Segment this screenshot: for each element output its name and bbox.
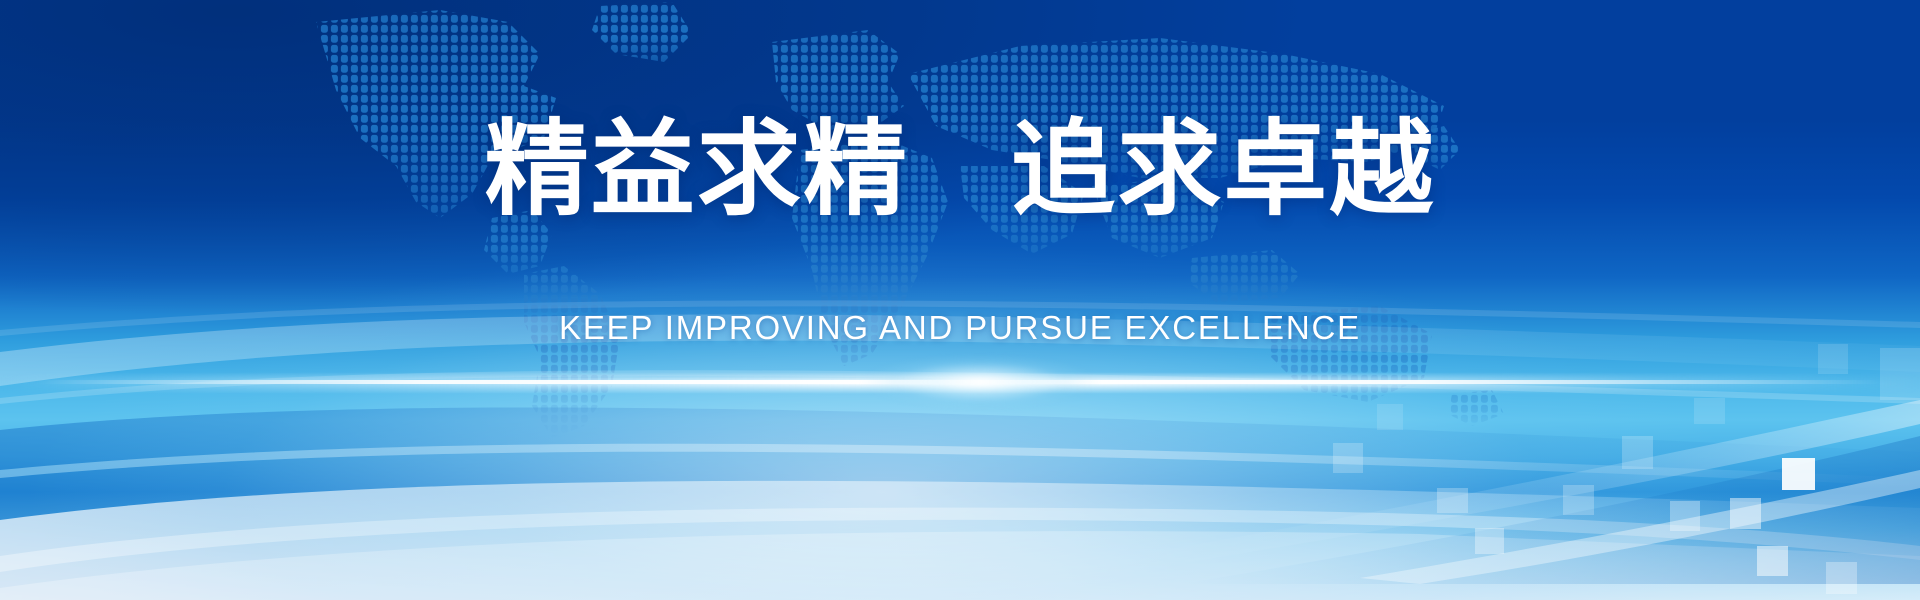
square-11 <box>1377 404 1403 430</box>
headline-primary: 精益求精 <box>485 113 909 228</box>
banner-canvas: 精益求精 追求卓越 KEEP IMPROVING AND PURSUE EXCE… <box>0 0 1920 600</box>
square-8 <box>1730 498 1761 529</box>
square-1 <box>1880 348 1920 400</box>
square-10 <box>1826 562 1857 594</box>
square-5 <box>1563 485 1594 515</box>
subtitle-text: KEEP IMPROVING AND PURSUE EXCELLENCE <box>0 309 1920 347</box>
headline-calligraphy: 精益求精 追求卓越 <box>0 118 1920 224</box>
square-4 <box>1622 436 1653 469</box>
background-center-glow <box>0 0 1920 600</box>
square-13 <box>1437 488 1468 513</box>
square-6 <box>1782 458 1815 490</box>
square-12 <box>1333 443 1363 473</box>
square-14 <box>1475 528 1504 554</box>
square-7 <box>1670 501 1700 531</box>
square-9 <box>1757 546 1788 576</box>
headline-secondary: 追求卓越 <box>1011 113 1435 228</box>
square-2 <box>1818 344 1848 374</box>
square-3 <box>1694 398 1725 424</box>
